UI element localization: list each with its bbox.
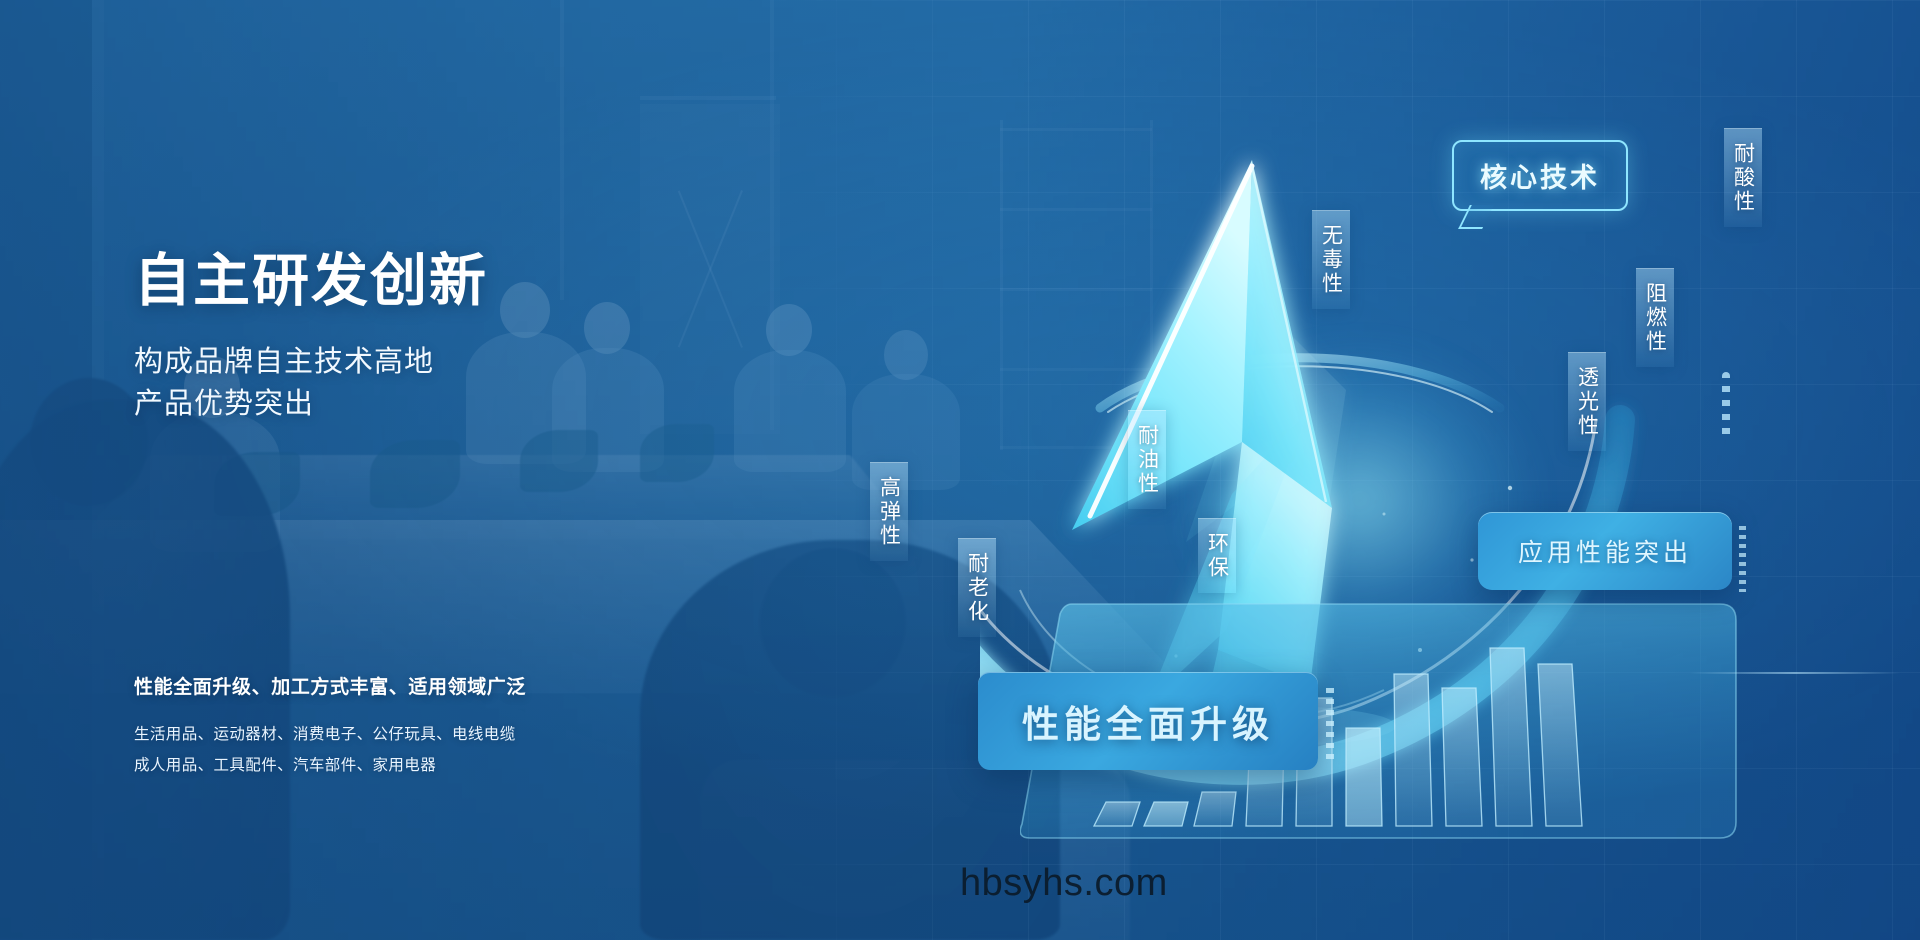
horizontal-light-line [1690,672,1900,674]
property-tag-aging-resistance[interactable]: 耐老化 [958,538,996,637]
property-tag-acid-resistance[interactable]: 耐酸性 [1724,128,1762,227]
features-list: 生活用品、运动器材、消费电子、公仔玩具、电线电缆 成人用品、工具配件、汽车部件、… [134,719,754,781]
subtitle-line-2: 产品优势突出 [134,383,694,425]
application-performance-button[interactable]: 应用性能突出 [1478,512,1732,590]
dot-column-decoration [1722,372,1730,442]
page-title: 自主研发创新 [134,250,694,313]
site-watermark: hbsyhs.com [960,862,1168,905]
banner-dot-decoration [1326,688,1334,762]
property-tag-non-toxic[interactable]: 无毒性 [1312,210,1350,309]
hero-banner: 自主研发创新 构成品牌自主技术高地 产品优势突出 性能全面升级、加工方式丰富、适… [0,0,1920,940]
copy-block: 自主研发创新 构成品牌自主技术高地 产品优势突出 [134,250,694,425]
features-block: 性能全面升级、加工方式丰富、适用领域广泛 生活用品、运动器材、消费电子、公仔玩具… [134,672,754,781]
subtitle-line-1: 构成品牌自主技术高地 [134,341,694,383]
subtitle: 构成品牌自主技术高地 产品优势突出 [134,341,694,425]
features-line-2: 成人用品、工具配件、汽车部件、家用电器 [134,750,754,781]
property-tag-eco-friendly[interactable]: 环保 [1198,518,1236,593]
performance-upgrade-banner[interactable]: 性能全面升级 [978,672,1318,770]
application-performance-label: 应用性能突出 [1518,539,1692,567]
features-headline: 性能全面升级、加工方式丰富、适用领域广泛 [134,672,754,699]
core-technology-badge[interactable]: 核心技术 [1452,140,1628,211]
property-tag-light-transmittance[interactable]: 透光性 [1568,352,1606,451]
property-tag-oil-resistance[interactable]: 耐油性 [1128,410,1166,509]
property-tag-flame-retardant[interactable]: 阻燃性 [1636,268,1674,367]
performance-upgrade-label: 性能全面升级 [1022,704,1274,745]
features-line-1: 生活用品、运动器材、消费电子、公仔玩具、电线电缆 [134,719,754,750]
property-tag-high-elasticity[interactable]: 高弹性 [870,462,908,561]
pill-dot-decoration [1739,526,1746,592]
